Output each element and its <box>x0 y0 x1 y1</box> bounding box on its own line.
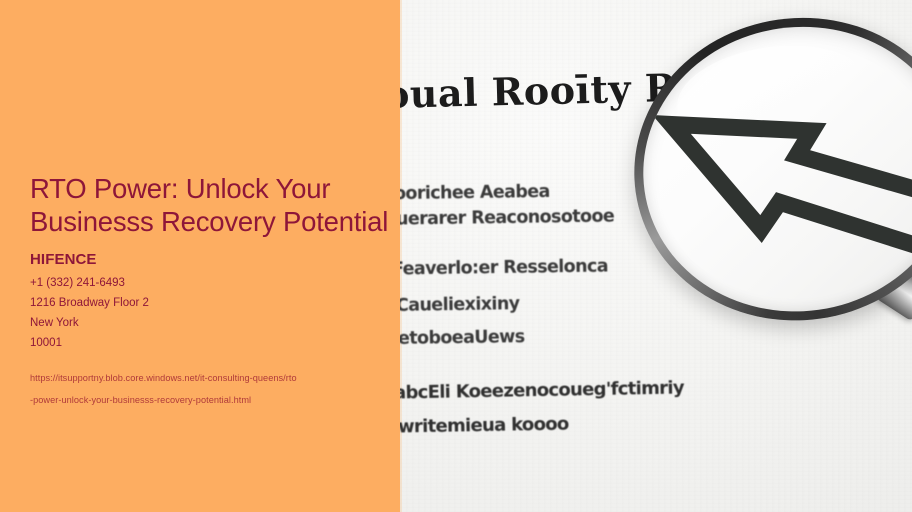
photo-body-line-2: uerarer Reaconosotooe <box>400 206 614 229</box>
photo-body-line-3: Feaverlo:er Resselonca <box>400 256 608 279</box>
left-info-panel: RTO Power: Unlock Your Businesss Recover… <box>0 0 400 512</box>
company-name: HIFENCE <box>30 250 390 269</box>
page-title: RTO Power: Unlock Your Businesss Recover… <box>30 172 390 238</box>
page-canvas: RTO Power: Unlock Your Businesss Recover… <box>0 0 912 512</box>
arrow-up-left-icon <box>655 49 912 301</box>
city: New York <box>30 313 390 333</box>
magnifier-lens <box>625 7 912 332</box>
photo-lower-line-2: writemieua koooo <box>400 414 569 438</box>
photo-body-line-1: oorichee Aeabea <box>400 182 550 204</box>
phone-number: +1 (332) 241-6493 <box>30 273 390 293</box>
source-url-line-2: -power-unlock-your-businesss-recovery-po… <box>30 389 390 411</box>
street-address: 1216 Broadway Floor 2 <box>30 293 390 313</box>
postal-code: 10001 <box>30 333 390 353</box>
magnifying-glass-icon <box>615 0 912 369</box>
hero-photo: oual Rooīty Recouruitiry oorichee Aeabea… <box>400 0 912 512</box>
source-url[interactable]: https://itsupportny.blob.core.windows.ne… <box>30 367 390 411</box>
source-url-line-1: https://itsupportny.blob.core.windows.ne… <box>30 367 390 389</box>
photo-lower-line-1: abcEli Koeezenocoueg'fctimriy <box>400 377 684 403</box>
photo-body-line-4: Caueliexixiny <box>400 294 520 316</box>
left-content-stack: RTO Power: Unlock Your Businesss Recover… <box>30 172 390 411</box>
photo-body-line-5: etoboeaUews <box>400 327 525 349</box>
